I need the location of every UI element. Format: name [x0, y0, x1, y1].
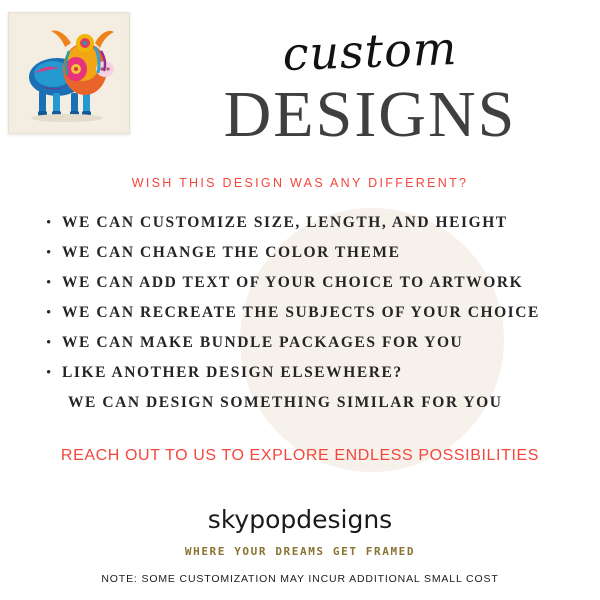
- capabilities-list: • WE CAN CUSTOMIZE SIZE, LENGTH, AND HEI…: [46, 214, 591, 424]
- brand-tagline: WHERE YOUR DREAMS GET FRAMED: [0, 545, 600, 558]
- headline-block: custom DESIGNS: [140, 18, 600, 148]
- main-headline: DESIGNS: [140, 82, 600, 148]
- highland-cow-artwork: [13, 17, 125, 129]
- footer-note: NOTE: SOME CUSTOMIZATION MAY INCUR ADDIT…: [0, 573, 600, 585]
- bullet-marker-icon: •: [46, 336, 62, 351]
- list-item: • LIKE ANOTHER DESIGN ELSEWHERE?: [46, 364, 591, 394]
- list-item: • WE CAN CUSTOMIZE SIZE, LENGTH, AND HEI…: [46, 214, 591, 244]
- list-item: • WE CAN ADD TEXT OF YOUR CHOICE TO ARTW…: [46, 274, 591, 304]
- script-headline: custom: [139, 20, 600, 82]
- bullet-marker-icon: •: [46, 216, 62, 231]
- list-item-label: WE CAN MAKE BUNDLE PACKAGES FOR YOU: [62, 334, 463, 352]
- brand-name: skypopdesigns: [0, 505, 600, 534]
- list-item: • WE CAN RECREATE THE SUBJECTS OF YOUR C…: [46, 304, 591, 334]
- call-to-action-text: REACH OUT TO US TO EXPLORE ENDLESS POSSI…: [0, 447, 600, 465]
- bullet-marker-icon: •: [46, 366, 62, 381]
- bullet-marker-icon: •: [46, 276, 62, 291]
- promo-page: custom DESIGNS WISH THIS DESIGN WAS ANY …: [0, 0, 600, 600]
- sub-tagline: WISH THIS DESIGN WAS ANY DIFFERENT?: [0, 176, 600, 190]
- list-item-label: WE CAN RECREATE THE SUBJECTS OF YOUR CHO…: [62, 304, 540, 322]
- list-item: • WE CAN MAKE BUNDLE PACKAGES FOR YOU: [46, 334, 591, 364]
- list-item-label: WE CAN CHANGE THE COLOR THEME: [62, 244, 401, 262]
- bullet-marker-icon: •: [46, 306, 62, 321]
- list-item: • WE CAN CHANGE THE COLOR THEME: [46, 244, 591, 274]
- list-item-label: WE CAN ADD TEXT OF YOUR CHOICE TO ARTWOR…: [62, 274, 523, 292]
- bullet-marker-icon: •: [46, 246, 62, 261]
- list-item-continuation: WE CAN DESIGN SOMETHING SIMILAR FOR YOU: [46, 394, 591, 424]
- list-item-label: WE CAN DESIGN SOMETHING SIMILAR FOR YOU: [62, 394, 503, 412]
- list-item-label: LIKE ANOTHER DESIGN ELSEWHERE?: [62, 364, 403, 382]
- framed-artwork-thumbnail[interactable]: [8, 12, 130, 134]
- list-item-label: WE CAN CUSTOMIZE SIZE, LENGTH, AND HEIGH…: [62, 214, 508, 232]
